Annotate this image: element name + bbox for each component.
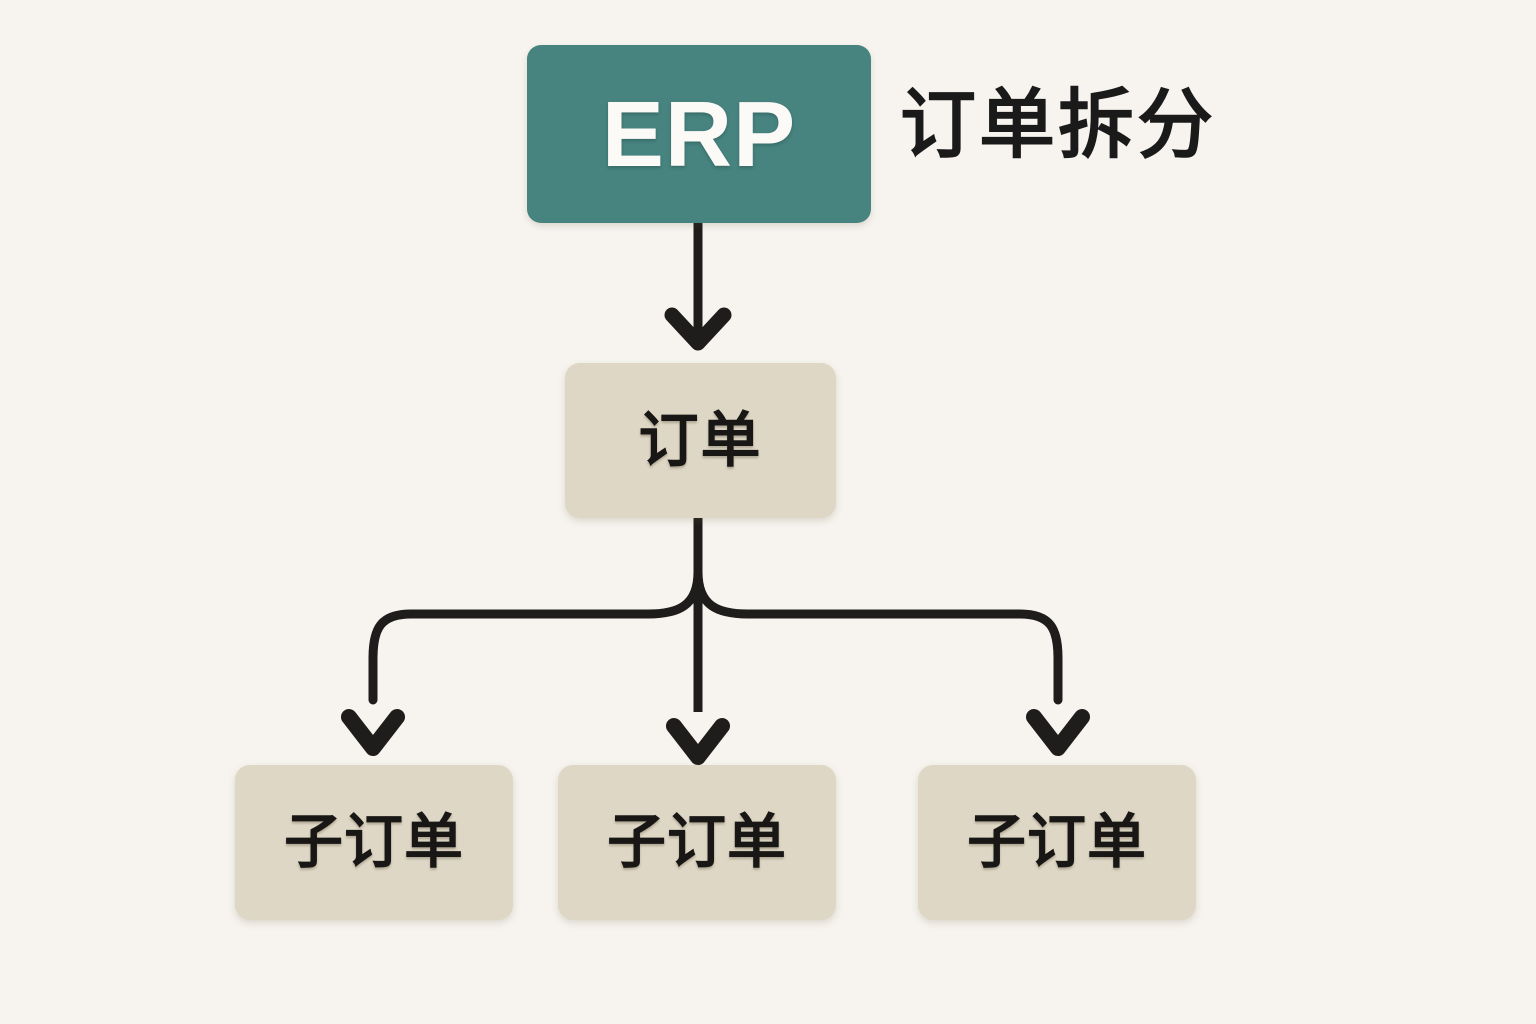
node-erp-label: ERP	[602, 88, 796, 181]
node-suborder-3[interactable]: 子订单	[918, 765, 1196, 920]
node-order[interactable]: 订单	[565, 363, 836, 518]
diagram-caption: 订单拆分	[900, 88, 1216, 164]
edge-erp-to-order-arrowhead	[672, 315, 724, 343]
edge-arrowhead-child-2	[674, 726, 722, 757]
node-suborder-1-label: 子订单	[284, 813, 464, 872]
node-suborder-2[interactable]: 子订单	[558, 765, 836, 920]
node-suborder-2-label: 子订单	[607, 813, 787, 872]
edge-arrowhead-child-3	[1034, 717, 1082, 748]
edge-arrowhead-child-1	[349, 717, 397, 748]
edge-order-split-left	[373, 572, 698, 700]
node-suborder-3-label: 子订单	[967, 813, 1147, 872]
node-erp[interactable]: ERP	[527, 45, 871, 223]
node-order-label: 订单	[639, 411, 763, 471]
edge-order-split-right	[698, 572, 1058, 700]
node-suborder-1[interactable]: 子订单	[235, 765, 513, 920]
diagram-canvas: ERP 订单拆分 订单 子订单 子订单 子订单	[0, 0, 1536, 1024]
